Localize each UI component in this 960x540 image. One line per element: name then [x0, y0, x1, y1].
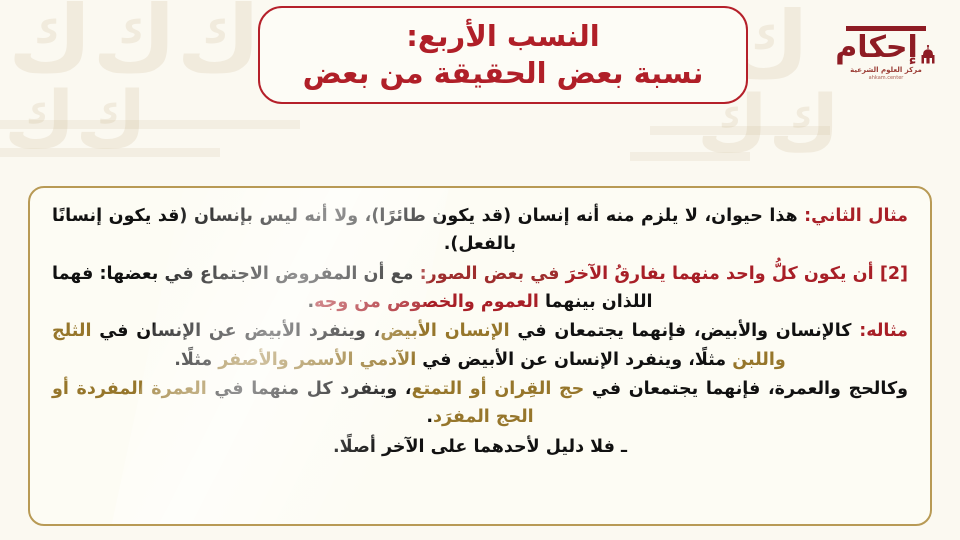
- paragraph-conclusion: ـ فلا دليل لأحدهما على الآخر أصلًا.: [52, 433, 908, 461]
- page-title-line-1: النسب الأربع:: [406, 19, 600, 54]
- paragraph-example-two: مثال الثاني: هذا حيوان، لا يلزم منه أنه …: [52, 202, 908, 259]
- example-three-term-1: الإنسان الأبيض: [380, 321, 509, 341]
- content-card: مثال الثاني: هذا حيوان، لا يلزم منه أنه …: [28, 186, 932, 526]
- label-example-three: مثاله:: [859, 321, 908, 341]
- brand-logo: إحكام مركز العلوم الشرعية ahkam.center: [826, 12, 946, 94]
- text-example-two: هذا حيوان، لا يلزم منه أنه إنسان (قد يكو…: [52, 206, 804, 254]
- paragraph-example-human-white: مثاله: كالإنسان والأبيض، فإنهما يجتمعان …: [52, 317, 908, 374]
- example-four-seg-1: وكالحج والعمرة، فإنهما يجتمعان في: [584, 379, 908, 399]
- paragraph-point-two: [2] أن يكون كلُّ واحد منهما يفارقُ الآخر…: [52, 260, 908, 317]
- point-two-heading-b: في بعض الصور:: [420, 264, 560, 284]
- logo-subtitle-small: ahkam.center: [869, 75, 904, 81]
- conclusion-text: ـ فلا دليل لأحدهما على الآخر أصلًا.: [333, 437, 627, 457]
- example-three-seg-7: مثلًا.: [174, 350, 218, 370]
- example-three-term-3: الآدمي الأسمر والأصفر: [218, 350, 416, 370]
- example-four-term-1: حج القِران أو التمتع: [412, 379, 585, 399]
- point-two-emphasis: العموم والخصوص من وجه: [314, 292, 539, 312]
- logo-wordmark-row: إحكام: [835, 33, 937, 63]
- example-three-seg-3: ، وينفرد الأبيض عن الإنسان في: [91, 321, 380, 341]
- deco-bar-c: [650, 126, 830, 135]
- paragraph-example-hajj-umrah: وكالحج والعمرة، فإنهما يجتمعان في حج الق…: [52, 375, 908, 432]
- page-title-line-2: نسبة بعض الحقيقة من بعض: [303, 56, 704, 91]
- deco-bar-a: [0, 120, 300, 129]
- slide-header: النسب الأربع: نسبة بعض الحقيقة من بعض إح…: [0, 0, 960, 110]
- logo-subtitle: مركز العلوم الشرعية: [850, 66, 922, 74]
- example-three-seg-1: كالإنسان والأبيض، فإنهما يجتمعان في: [510, 321, 860, 341]
- label-example-two: مثال الثاني:: [804, 206, 908, 226]
- deco-bar-b: [0, 148, 220, 157]
- logo-wordmark-text: إحكام: [835, 33, 918, 63]
- deco-bar-d: [630, 152, 750, 161]
- example-four-seg-5: .: [426, 407, 433, 427]
- example-three-seg-5: مثلًا، وينفرد الإنسان عن الأبيض في: [416, 350, 732, 370]
- point-two-heading-a: [2] أن يكون كلُّ واحد منهما يفارقُ الآخر…: [559, 264, 908, 284]
- title-box: النسب الأربع: نسبة بعض الحقيقة من بعض: [258, 6, 748, 104]
- mosque-dome-icon: [919, 45, 937, 65]
- example-four-seg-3: ، وينفرد كل منهما في: [207, 379, 412, 399]
